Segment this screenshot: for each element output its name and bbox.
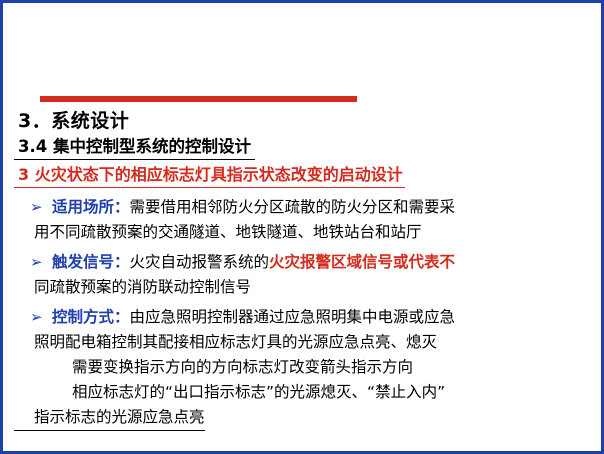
bullet-text-applicable-places-1: 需要借用相邻防火分区疏散的防火分区和需要采 [130, 198, 456, 216]
slide-border-top [0, 0, 604, 3]
bullet-item-applicable-places: ➢ 适用场所：需要借用相邻防火分区疏散的防火分区和需要采 [14, 195, 592, 220]
slide-content: 3．系统设计 3.4 集中控制型系统的控制设计 3 火灾状态下的相应标志灯具指示… [14, 96, 592, 431]
bullet-text-control-mode-2: 照明配电箱控制其配接相应标志灯具的光源应急点亮、熄灭 [14, 330, 592, 355]
sub-line-no-entry-wrap: 指示标志的光源应急点亮 [14, 405, 592, 431]
bullet-lead-applicable-places: 适用场所： [52, 198, 130, 216]
bullet-body-control-mode: 控制方式：由应急照明控制器通过应急照明集中电源或应急 [52, 305, 592, 330]
arrow-bullet-icon: ➢ [14, 305, 52, 330]
bullet-list: ➢ 适用场所：需要借用相邻防火分区疏散的防火分区和需要采 用不同疏散预案的交通隧… [14, 195, 592, 431]
bullet-emphasis-trigger-signal-1: 火灾报警区域信号或代表不 [269, 253, 455, 271]
title-underline-bar [40, 96, 357, 102]
bullet-lead-control-mode: 控制方式： [52, 308, 130, 326]
bullet-text-trigger-signal-1: 火灾自动报警系统的 [130, 253, 270, 271]
arrow-bullet-icon: ➢ [14, 195, 52, 220]
bullet-item-trigger-signal: ➢ 触发信号：火灾自动报警系统的火灾报警区域信号或代表不 [14, 250, 592, 275]
arrow-bullet-icon: ➢ [14, 250, 52, 275]
sub-line-direction-sign: 需要变换指示方向的方向标志灯改变箭头指示方向 [14, 355, 592, 380]
heading-level-2-wrap: 3.4 集中控制型系统的控制设计 [14, 134, 592, 160]
slide-border-left [0, 0, 3, 454]
heading-level-3-wrap: 3 火灾状态下的相应标志灯具指示状态改变的启动设计 [14, 160, 592, 188]
slide-root: 3．系统设计 3.4 集中控制型系统的控制设计 3 火灾状态下的相应标志灯具指示… [0, 0, 604, 454]
bullet-text-applicable-places-2: 用不同疏散预案的交通隧道、地铁隧道、地铁站台和站厅 [14, 220, 592, 245]
sub-line-no-entry: 指示标志的光源应急点亮 [14, 405, 205, 431]
sub-line-exit-sign: 相应标志灯的“出口指示标志”的光源熄灭、“禁止入内” [14, 380, 592, 405]
bullet-lead-trigger-signal: 触发信号： [52, 253, 130, 271]
bullet-item-control-mode: ➢ 控制方式：由应急照明控制器通过应急照明集中电源或应急 [14, 305, 592, 330]
bullet-body-trigger-signal: 触发信号：火灾自动报警系统的火灾报警区域信号或代表不 [52, 250, 592, 275]
bullet-body-applicable-places: 适用场所：需要借用相邻防火分区疏散的防火分区和需要采 [52, 195, 592, 220]
heading-level-2: 3.4 集中控制型系统的控制设计 [14, 135, 255, 160]
heading-level-3: 3 火灾状态下的相应标志灯具指示状态改变的启动设计 [14, 163, 405, 188]
bullet-text-control-mode-1: 由应急照明控制器通过应急照明集中电源或应急 [130, 308, 456, 326]
bullet-emphasis-trigger-signal-2: 同疏散预案的消防联动控制信号 [14, 275, 592, 300]
heading-level-1: 3．系统设计 [14, 108, 592, 134]
bullet-emphasis-trigger-signal-2-text: 同疏散预案的消防联动控制信号 [34, 278, 251, 296]
